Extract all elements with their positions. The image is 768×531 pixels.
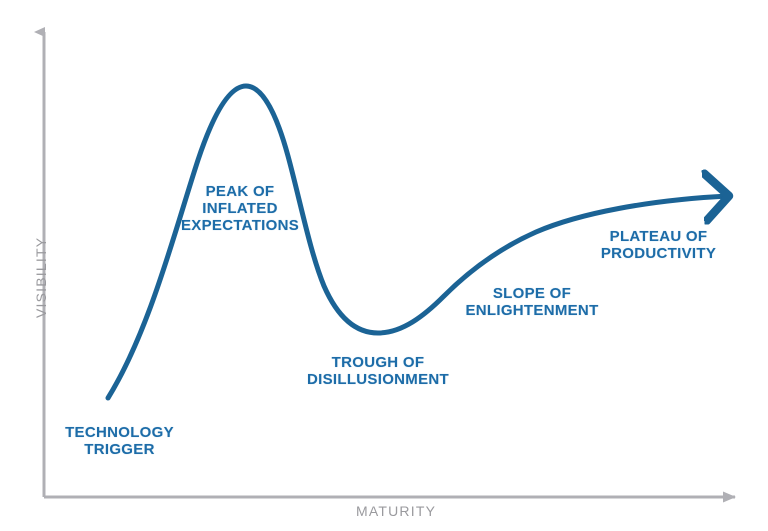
phase-label-peak-of-inflated-expectations: PEAK OF INFLATED EXPECTATIONS [166, 183, 314, 234]
phase-label-trough-of-disillusionment: TROUGH OF DISILLUSIONMENT [285, 354, 471, 388]
y-axis-label: VISIBILITY [33, 237, 49, 318]
phase-label-slope-of-enlightenment: SLOPE OF ENLIGHTENMENT [449, 285, 615, 319]
hype-cycle-figure: VISIBILITY MATURITY TECHNOLOGY TRIGGER P… [0, 0, 768, 531]
phase-label-technology-trigger: TECHNOLOGY TRIGGER [48, 424, 191, 458]
x-axis-label: MATURITY [356, 503, 436, 519]
phase-label-plateau-of-productivity: PLATEAU OF PRODUCTIVITY [586, 228, 731, 262]
